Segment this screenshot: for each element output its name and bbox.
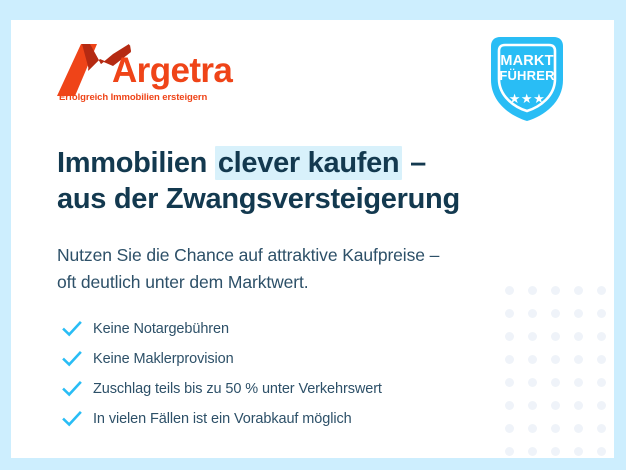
grid-dot <box>597 378 606 387</box>
subheadline-line-2: oft deutlich unter dem Marktwert. <box>57 272 309 292</box>
grid-dot <box>528 447 537 456</box>
list-item-label: Keine Maklerprovision <box>93 351 234 367</box>
shield-badge-icon <box>486 34 568 124</box>
headline-line-2: aus der Zwangsversteigerung <box>57 183 460 215</box>
grid-dot <box>505 401 514 410</box>
list-item-label: In vielen Fällen ist ein Vorabkauf mögli… <box>93 411 352 427</box>
grid-dot <box>574 424 583 433</box>
grid-dot <box>528 401 537 410</box>
headline-line-1: Immobilien clever kaufen – <box>57 146 426 180</box>
grid-dot <box>574 355 583 364</box>
grid-dot <box>551 332 560 341</box>
check-icon <box>61 318 83 340</box>
grid-dot <box>505 378 514 387</box>
grid-dot <box>597 286 606 295</box>
grid-dot <box>528 378 537 387</box>
grid-dot <box>597 309 606 318</box>
grid-dot <box>551 447 560 456</box>
grid-dot <box>574 309 583 318</box>
logo-wordmark: Argetra <box>112 53 232 88</box>
grid-dot <box>597 447 606 456</box>
grid-dot <box>597 355 606 364</box>
grid-dot <box>505 309 514 318</box>
headline: Immobilien clever kaufen – aus der Zwang… <box>57 145 577 218</box>
check-icon <box>61 378 83 400</box>
argetra-logo[interactable]: Argetra Erfolgreich Immobilien ersteiger… <box>57 42 247 120</box>
grid-dot <box>528 424 537 433</box>
check-icon <box>61 408 83 430</box>
grid-dot <box>574 378 583 387</box>
grid-dot <box>505 424 514 433</box>
market-leader-badge: MARKT FÜHRER ★★★ <box>486 34 568 124</box>
grid-dot <box>551 424 560 433</box>
grid-dot <box>597 332 606 341</box>
grid-dot <box>551 309 560 318</box>
grid-dot <box>505 355 514 364</box>
list-item: In vielen Fällen ist ein Vorabkauf mögli… <box>61 404 382 434</box>
benefits-list: Keine Notargebühren Keine Maklerprovisio… <box>61 314 382 434</box>
grid-dot <box>574 286 583 295</box>
grid-dot <box>574 332 583 341</box>
list-item: Zuschlag teils bis zu 50 % unter Verkehr… <box>61 374 382 404</box>
headline-part-after: – <box>402 147 426 179</box>
banner-card: Argetra Erfolgreich Immobilien ersteiger… <box>11 20 614 458</box>
grid-dot <box>574 401 583 410</box>
grid-dot <box>597 401 606 410</box>
grid-dot <box>505 447 514 456</box>
headline-part-before: Immobilien <box>57 147 215 179</box>
grid-dot <box>528 309 537 318</box>
badge-stars: ★★★ <box>486 92 568 105</box>
grid-dot <box>528 355 537 364</box>
subheadline-line-1: Nutzen Sie die Chance auf attraktive Kau… <box>57 245 439 265</box>
grid-dot <box>551 401 560 410</box>
list-item: Keine Maklerprovision <box>61 344 382 374</box>
subheadline: Nutzen Sie die Chance auf attraktive Kau… <box>57 242 557 295</box>
logo-tagline: Erfolgreich Immobilien ersteigern <box>59 92 207 103</box>
grid-dot <box>597 424 606 433</box>
promo-banner: Argetra Erfolgreich Immobilien ersteiger… <box>0 0 626 470</box>
headline-highlight: clever kaufen <box>215 146 403 180</box>
grid-dot <box>505 332 514 341</box>
list-item: Keine Notargebühren <box>61 314 382 344</box>
grid-dot <box>551 378 560 387</box>
grid-dot <box>528 332 537 341</box>
grid-dot <box>574 447 583 456</box>
check-icon <box>61 348 83 370</box>
grid-dot <box>551 355 560 364</box>
decorative-dot-grid <box>505 286 614 458</box>
list-item-label: Zuschlag teils bis zu 50 % unter Verkehr… <box>93 381 382 397</box>
banner-header: Argetra Erfolgreich Immobilien ersteiger… <box>11 20 614 130</box>
list-item-label: Keine Notargebühren <box>93 321 229 337</box>
